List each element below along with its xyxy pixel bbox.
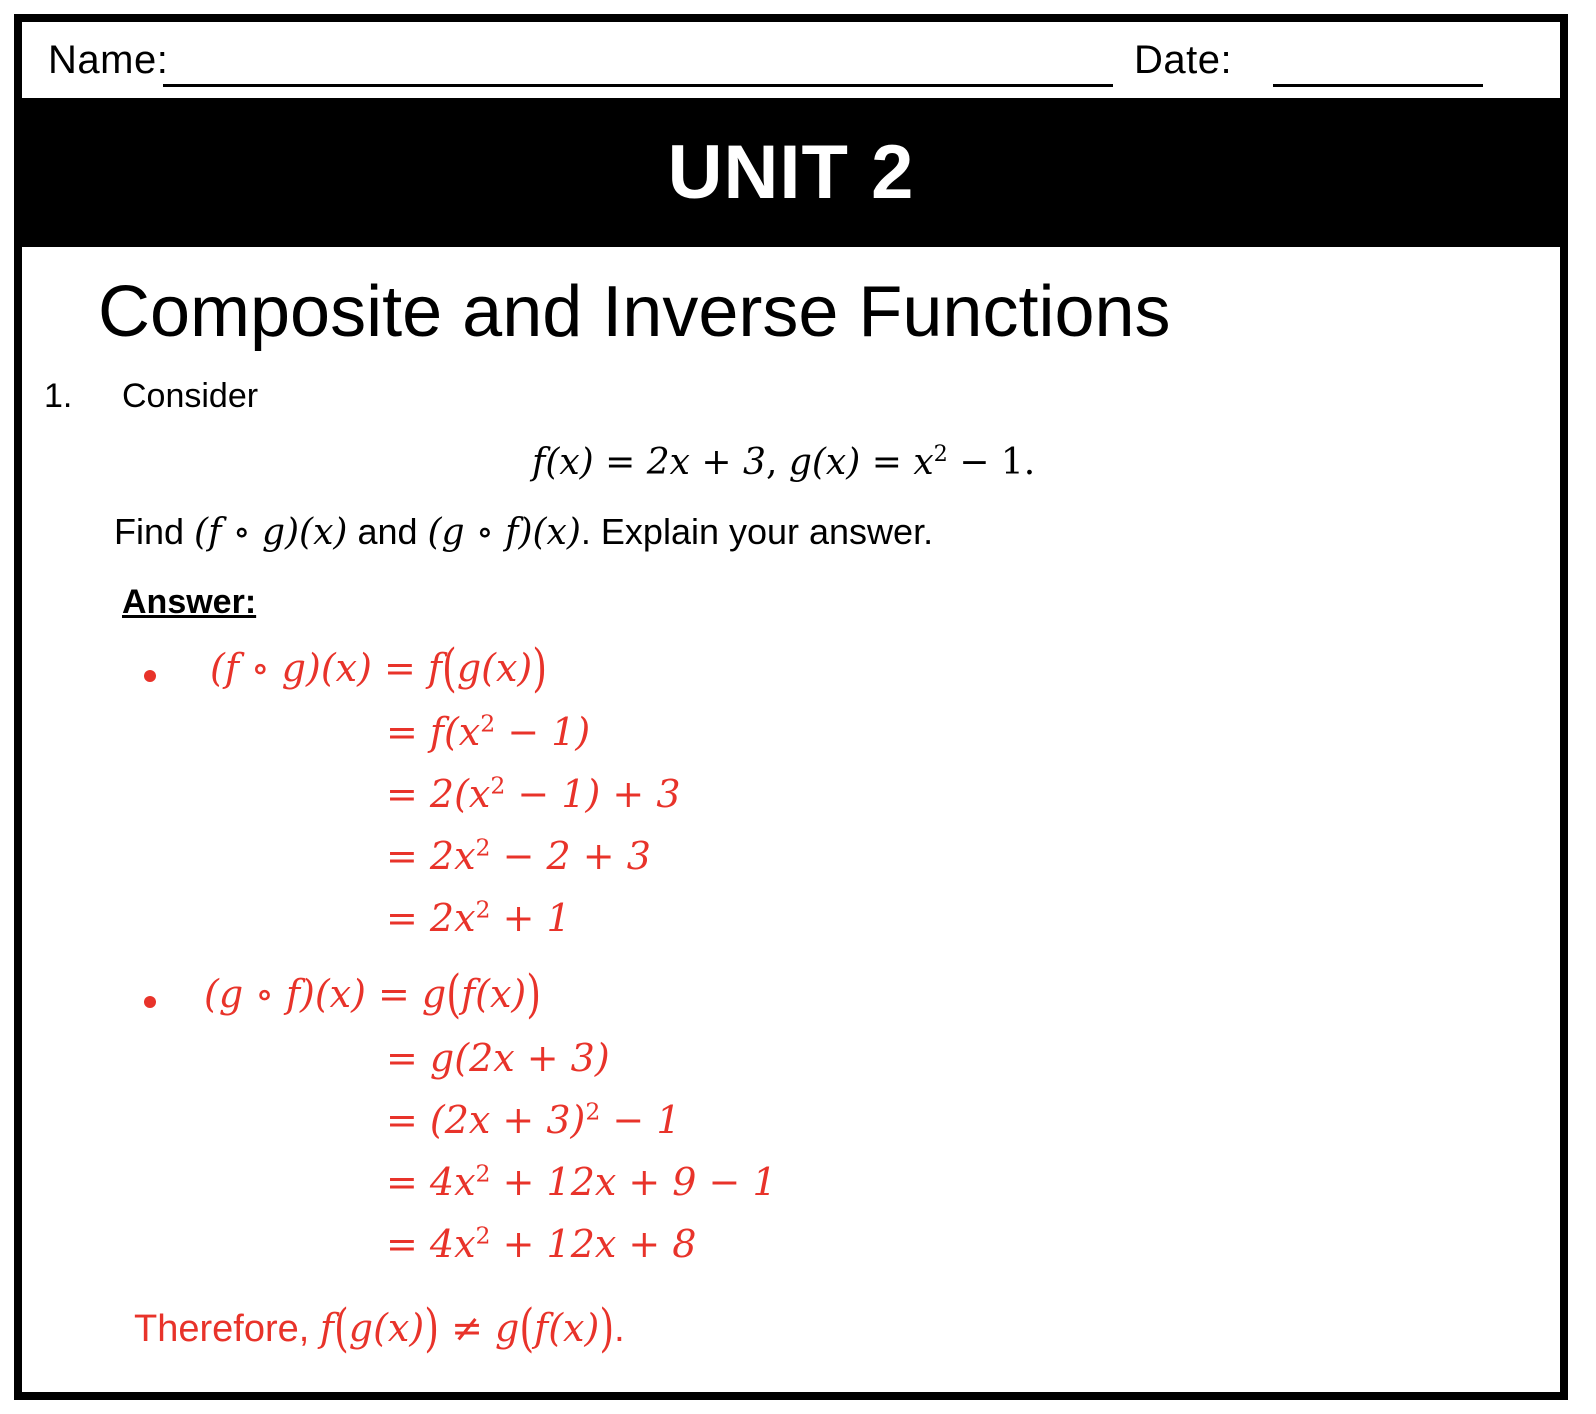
step-exponent: 2 [476, 1159, 491, 1187]
fg-inner: g(x) [457, 646, 532, 690]
unit-title: UNIT 2 [668, 135, 915, 211]
step-lead: = 2x [386, 896, 476, 940]
step-tail: + 12x + 8 [491, 1222, 697, 1266]
conclusion-prefix: Therefore, [134, 1308, 320, 1350]
answer-step: = 4x2 + 12x + 9 − 1 [22, 1160, 1560, 1222]
step-expression: = 2(x2 − 1) + 3 [386, 772, 681, 816]
step-lead: = 4x [386, 1160, 476, 1204]
answer-step: = 2x2 + 1 [22, 896, 1560, 958]
answer-label: Answer: [122, 583, 256, 622]
gf-outer-fn: g [422, 972, 446, 1016]
name-date-strip: Name: Date: [22, 22, 1560, 98]
step-expression: = (2x + 3)2 − 1 [386, 1098, 681, 1142]
step-exponent: 2 [585, 1097, 600, 1125]
answer-step: = g(2x + 3) [22, 1036, 1560, 1098]
given-separator: , [766, 442, 789, 483]
answer-bullet-gf: (g ∘ f)(x) = g(f(x)) [22, 972, 1560, 1036]
conclusion-relation: ≠ [439, 1306, 495, 1350]
question-1: 1. Consider [22, 377, 1560, 416]
step-expression: = f(x2 − 1) [386, 710, 590, 754]
step-expression: = g(2x + 3) [386, 1036, 610, 1080]
step-tail: + 1 [491, 896, 571, 940]
gf-left: (g ∘ f)(x) = [204, 972, 422, 1016]
answer-step: = (2x + 3)2 − 1 [22, 1098, 1560, 1160]
answer-conclusion: Therefore, f(g(x)) ≠ g(f(x)). [134, 1306, 1560, 1351]
step-lead: = 2(x [386, 772, 490, 816]
conclusion-suffix: . [614, 1308, 625, 1350]
find-composition-fg: (f ∘ g)(x) [194, 512, 347, 553]
composition-gf-definition: (g ∘ f)(x) = g(f(x)) [204, 972, 541, 1016]
answer-step: = 2(x2 − 1) + 3 [22, 772, 1560, 834]
step-tail: − 1) + 3 [505, 772, 680, 816]
page-title: Composite and Inverse Functions [98, 275, 1560, 351]
answer-step: = f(x2 − 1) [22, 710, 1560, 772]
question-prompt: Consider [122, 377, 258, 415]
bullet-icon [144, 996, 156, 1008]
find-mid: and [347, 511, 427, 552]
step-lead: = 2x [386, 834, 476, 878]
name-label: Name: [48, 38, 168, 83]
given-functions: f(x) = 2x + 3, g(x) = x2 − 1. [532, 442, 1560, 483]
find-composition-gf: (g ∘ f)(x) [428, 512, 581, 553]
answer-content: (f ∘ g)(x) = f(g(x)) = f(x2 − 1) = 2(x2 … [22, 646, 1560, 1351]
step-expression: = 2x2 + 1 [386, 896, 571, 940]
step-lead: = f(x [386, 710, 480, 754]
date-input-line[interactable] [1273, 84, 1483, 87]
step-tail: + 12x + 9 − 1 [491, 1160, 777, 1204]
conclusion-rhs-inner: f(x) [534, 1306, 599, 1350]
unit-banner: UNIT 2 [22, 98, 1560, 247]
question-number: 1. [44, 377, 72, 416]
worksheet-body: Composite and Inverse Functions 1. Consi… [22, 275, 1560, 1351]
find-prefix: Find [114, 511, 194, 552]
fg-left: (f ∘ g)(x) = [210, 646, 428, 690]
given-g-exponent: 2 [934, 441, 948, 467]
step-exponent: 2 [476, 833, 491, 861]
step-exponent: 2 [480, 709, 495, 737]
step-tail: − 1 [600, 1098, 680, 1142]
step-exponent: 2 [490, 771, 505, 799]
step-exponent: 2 [476, 895, 491, 923]
given-f: f(x) = 2x + 3 [532, 442, 766, 483]
given-g: g(x) = x [789, 442, 934, 483]
conclusion-lhs-fn: f [320, 1306, 334, 1350]
step-tail: − 1) [495, 710, 590, 754]
step-lead: = (2x + 3) [386, 1098, 585, 1142]
step-lead: = g(2x + 3) [386, 1036, 610, 1080]
bullet-icon [144, 670, 156, 682]
conclusion-rhs-fn: g [495, 1306, 519, 1350]
step-exponent: 2 [476, 1221, 491, 1249]
find-suffix: . Explain your answer. [581, 511, 933, 552]
step-expression: = 4x2 + 12x + 8 [386, 1222, 696, 1266]
given-g-tail: − 1. [948, 442, 1035, 483]
answer-bullet-fg: (f ∘ g)(x) = f(g(x)) [22, 646, 1560, 710]
step-lead: = 4x [386, 1222, 476, 1266]
find-instruction: Find (f ∘ g)(x) and (g ∘ f)(x). Explain … [114, 511, 1560, 553]
step-tail: − 2 + 3 [491, 834, 651, 878]
composition-fg-definition: (f ∘ g)(x) = f(g(x)) [210, 646, 547, 690]
name-input-line[interactable] [163, 84, 1113, 87]
conclusion-lhs: f(g(x)) [320, 1306, 439, 1350]
conclusion-lhs-inner: g(x) [349, 1306, 424, 1350]
step-expression: = 2x2 − 2 + 3 [386, 834, 651, 878]
conclusion-rhs: g(f(x)) [495, 1306, 614, 1350]
worksheet-page: Name: Date: UNIT 2 Composite and Inverse… [14, 14, 1568, 1400]
gf-inner: f(x) [461, 972, 526, 1016]
answer-step: = 4x2 + 12x + 8 [22, 1222, 1560, 1284]
answer-step: = 2x2 − 2 + 3 [22, 834, 1560, 896]
date-label: Date: [1134, 38, 1232, 83]
fg-outer-fn: f [428, 646, 442, 690]
step-expression: = 4x2 + 12x + 9 − 1 [386, 1160, 777, 1204]
